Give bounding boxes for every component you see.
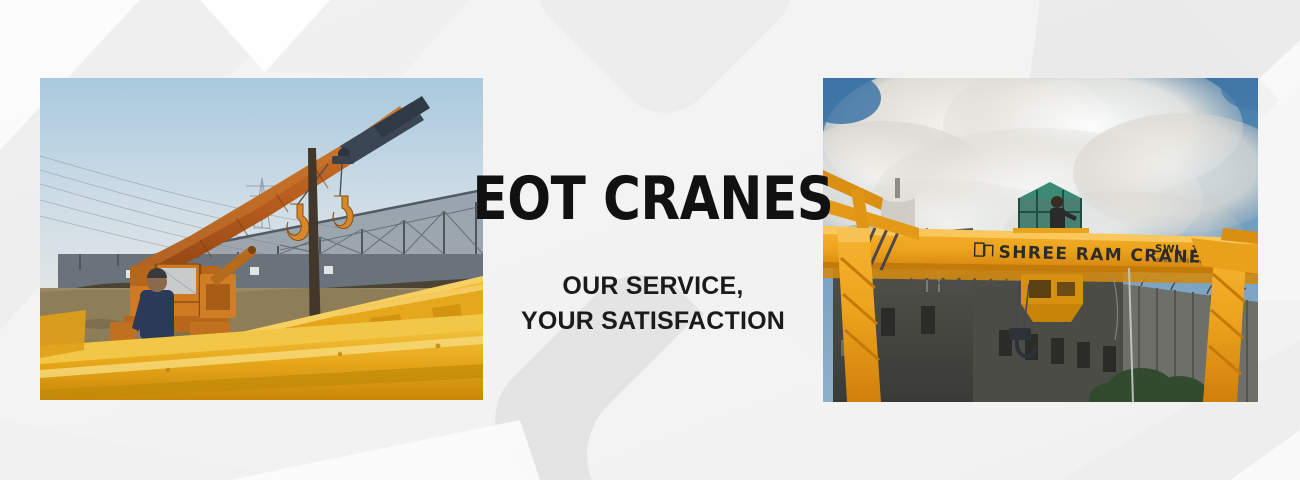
- eot-cranes-banner: EOT CRANES OUR SERVICE, YOUR SATISFACTIO…: [0, 0, 1300, 480]
- tagline-line-2: YOUR SATISFACTION: [521, 304, 785, 339]
- crane-span-label: SPAN 17650 mm: [1156, 258, 1207, 265]
- tagline: OUR SERVICE, YOUR SATISFACTION: [521, 269, 785, 338]
- page-title: EOT CRANES: [472, 169, 833, 229]
- photo-gantry-eot-crane: SHREE RAM CRANE SWL. 10 TON SPAN 17650 m…: [823, 78, 1258, 402]
- banner-text-block: EOT CRANES OUR SERVICE, YOUR SATISFACTIO…: [483, 78, 823, 403]
- tagline-line-1: OUR SERVICE,: [521, 269, 785, 304]
- photo-mobile-crane-construction-site: [40, 78, 483, 400]
